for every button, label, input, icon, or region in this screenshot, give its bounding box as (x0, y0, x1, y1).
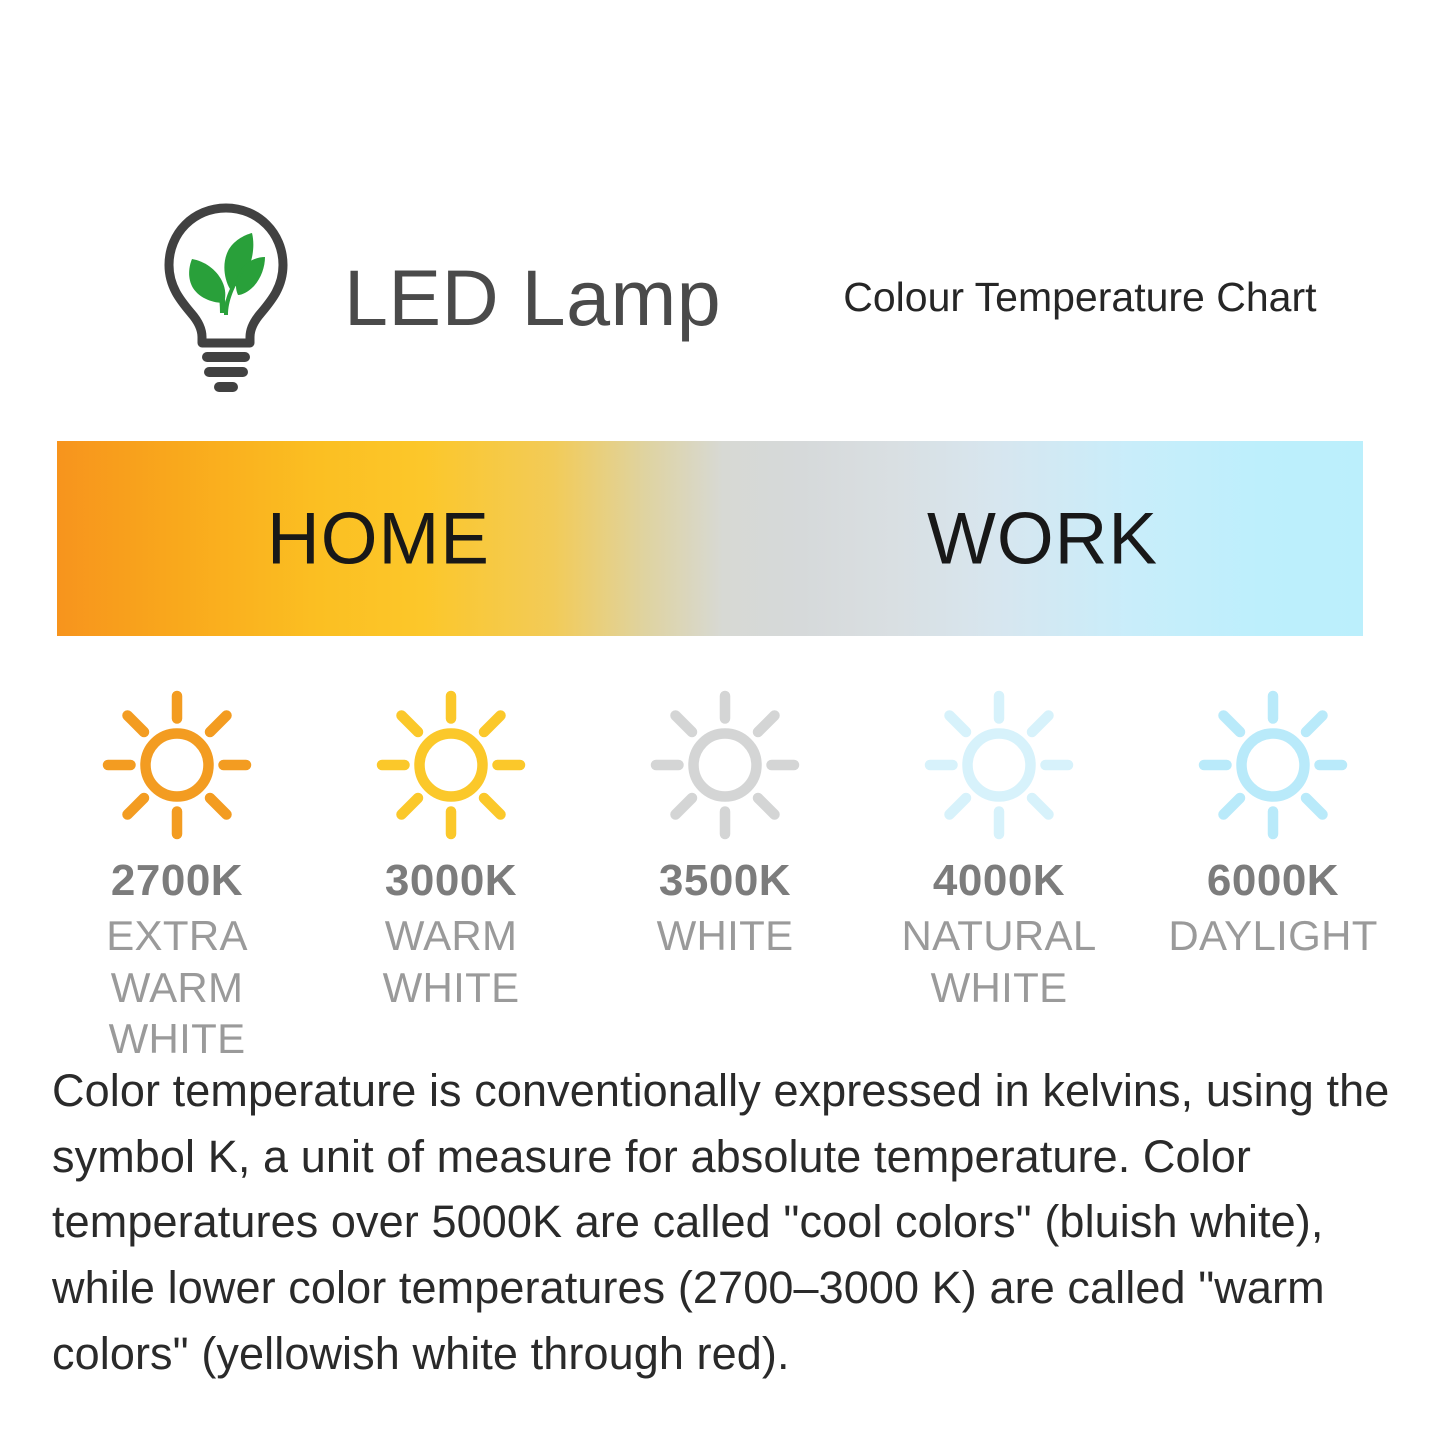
temperature-kelvin: 4000K (933, 856, 1065, 905)
temperature-item-6000k: 6000K DAYLIGHT (1136, 690, 1410, 962)
temperature-item-2700k: 2700K EXTRA WARM WHITE (40, 690, 314, 1064)
led-bulb-leaf-icon (160, 203, 292, 393)
gradient-label-home: HOME (267, 502, 490, 575)
temperature-name: DAYLIGHT (1168, 910, 1377, 961)
temperature-legend-row: 2700K EXTRA WARM WHITE 3000K WARM WHITE (40, 690, 1410, 1064)
colour-temperature-chart-page: LED Lamp Colour Temperature Chart HOME W… (0, 0, 1445, 1445)
temperature-kelvin: 2700K (111, 856, 243, 905)
temperature-name: WHITE (657, 910, 794, 961)
temperature-item-3500k: 3500K WHITE (588, 690, 862, 962)
temperature-name: NATURAL WHITE (867, 910, 1132, 1012)
temperature-item-4000k: 4000K NATURAL WHITE (862, 690, 1136, 1013)
temperature-name: WARM WHITE (319, 910, 584, 1012)
description-paragraph: Color temperature is conventionally expr… (52, 1058, 1392, 1386)
temperature-kelvin: 3000K (385, 856, 517, 905)
sun-icon (924, 690, 1074, 840)
page-header: LED Lamp Colour Temperature Chart (160, 200, 1340, 395)
temperature-item-3000k: 3000K WARM WHITE (314, 690, 588, 1013)
sun-icon (1198, 690, 1348, 840)
colour-temperature-gradient-bar: HOME WORK (57, 441, 1363, 636)
temperature-kelvin: 3500K (659, 856, 791, 905)
sun-icon (650, 690, 800, 840)
chart-subtitle: Colour Temperature Chart (843, 277, 1316, 318)
brand-title: LED Lamp (344, 258, 721, 337)
gradient-label-work: WORK (927, 502, 1158, 575)
sun-icon (102, 690, 252, 840)
temperature-kelvin: 6000K (1207, 856, 1339, 905)
sun-icon (376, 690, 526, 840)
temperature-name: EXTRA WARM WHITE (45, 910, 310, 1064)
